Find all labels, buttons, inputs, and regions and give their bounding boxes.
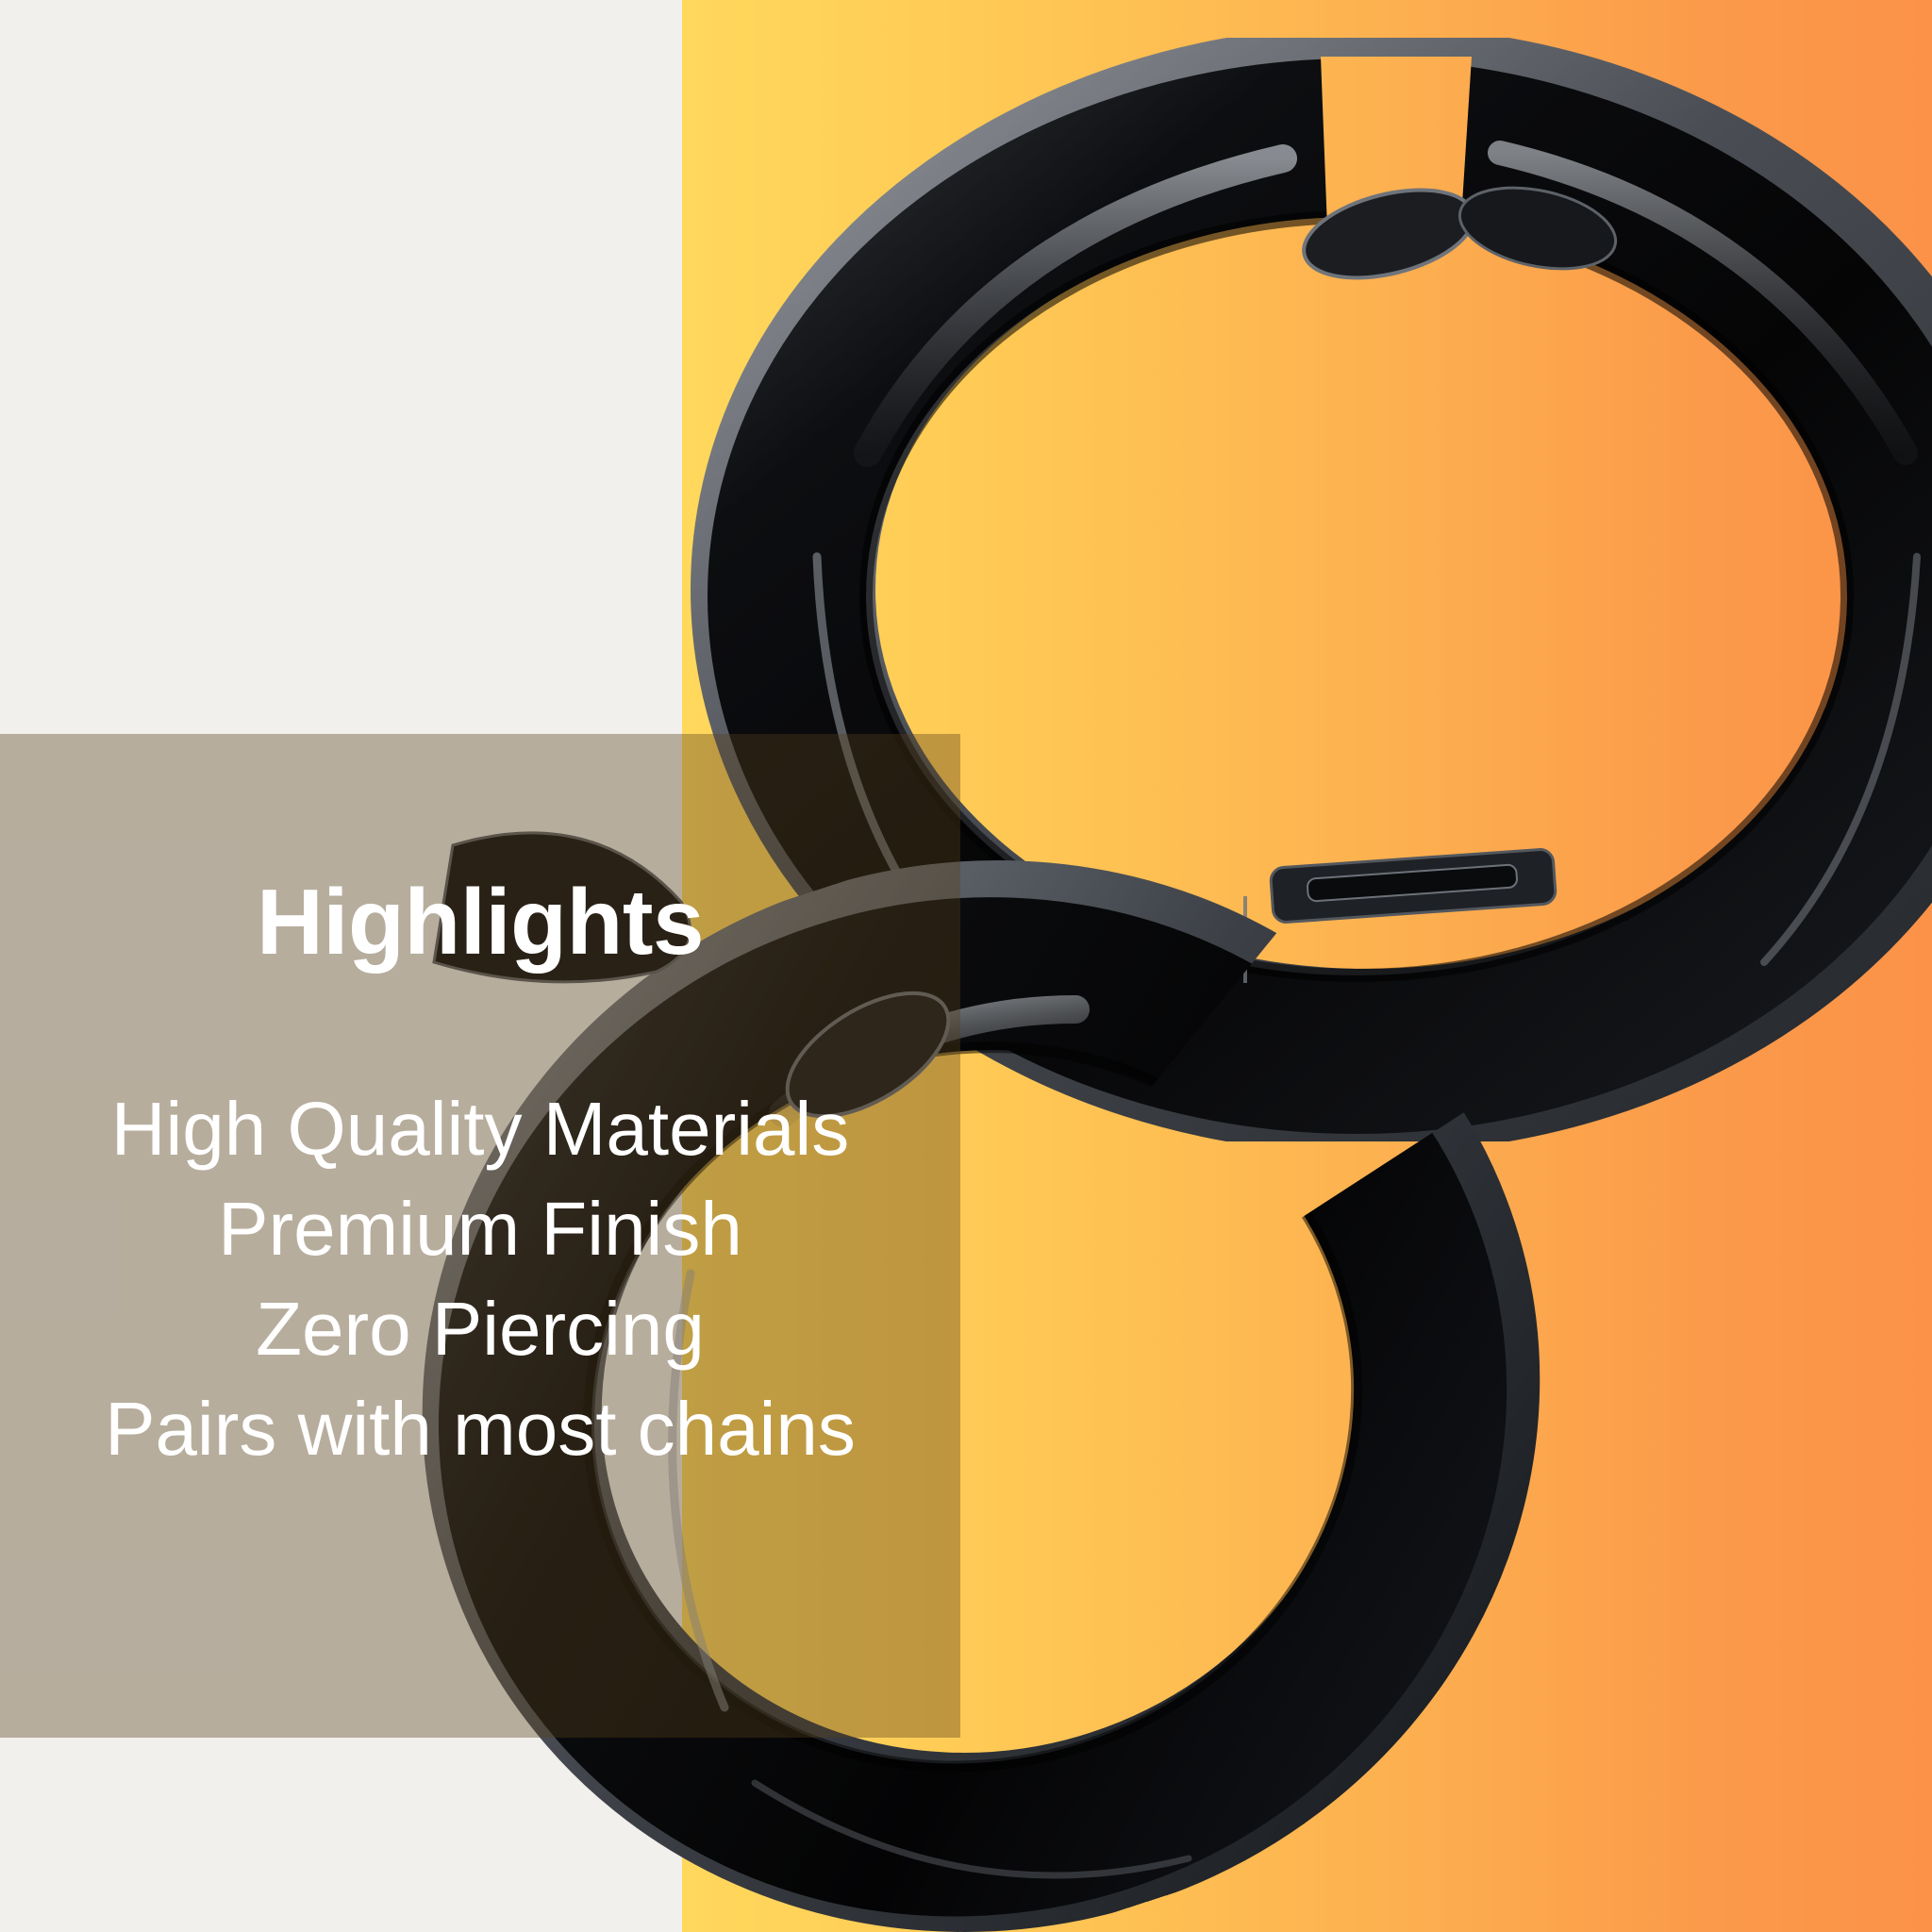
list-item: Pairs with most chains: [0, 1379, 960, 1479]
list-item: Premium Finish: [0, 1179, 960, 1279]
highlights-content: Highlights High Quality Materials Premiu…: [0, 734, 960, 1738]
list-item: Zero Piercing: [0, 1279, 960, 1379]
page-title: Highlights: [0, 875, 960, 968]
list-item: High Quality Materials: [0, 1079, 960, 1179]
product-highlight-card: Highlights High Quality Materials Premiu…: [0, 0, 1932, 1932]
highlights-list: High Quality Materials Premium Finish Ze…: [0, 1079, 960, 1479]
highlights-overlay-panel: Highlights High Quality Materials Premiu…: [0, 734, 960, 1738]
